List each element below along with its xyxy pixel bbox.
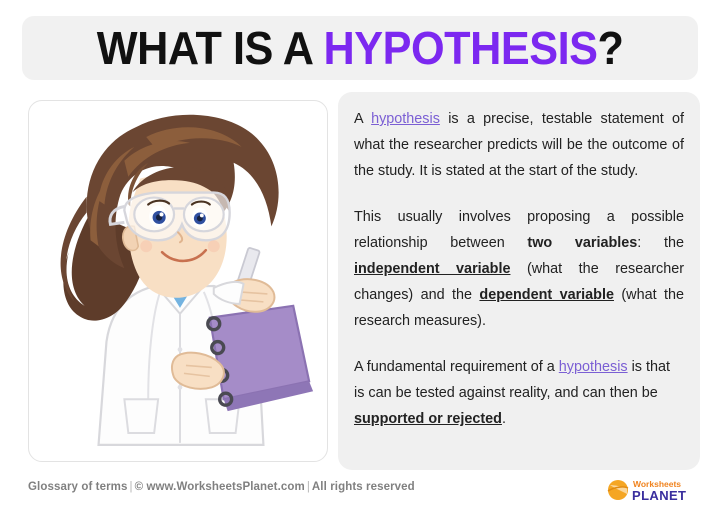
site-url[interactable]: www.WorksheetsPlanet.com (146, 481, 304, 493)
illustration-card (28, 100, 328, 462)
paragraph-3: A fundamental requirement of a hypothesi… (354, 354, 684, 432)
scientist-girl-illustration (29, 101, 327, 461)
page-title: WHAT IS A HYPOTHESIS? (97, 25, 624, 71)
clipboard (208, 306, 313, 411)
title-prefix: WHAT IS A (97, 22, 324, 74)
logo-word-bottom: PLANET (632, 488, 686, 503)
rights-label: All rights reserved (312, 481, 415, 493)
hypothesis-link-2[interactable]: hypothesis (559, 359, 628, 375)
p1-run-0: A (354, 111, 371, 127)
footer-separator-1: | (128, 481, 135, 493)
title-question-mark: ? (597, 22, 623, 74)
worksheets-planet-logo[interactable]: Worksheets PLANET (606, 476, 702, 504)
title-banner: WHAT IS A HYPOTHESIS? (22, 16, 698, 80)
footer-separator-2: | (305, 481, 312, 493)
paragraph-1: A hypothesis is a precise, testable stat… (354, 106, 684, 184)
planet-icon (608, 480, 628, 500)
paragraph-2: This usually involves proposing a possib… (354, 204, 684, 334)
glossary-label: Glossary of terms (28, 481, 128, 493)
footer-credit: Glossary of terms|© www.WorksheetsPlanet… (28, 481, 415, 493)
p2-run-2: : the (637, 235, 684, 251)
p3-run-0: A fundamental requirement of a (354, 359, 559, 375)
hypothesis-link[interactable]: hypothesis (371, 111, 440, 127)
two-variables-term: two variables (527, 235, 637, 251)
title-highlight: HYPOTHESIS (323, 22, 597, 74)
p3-run-4: . (502, 411, 506, 427)
copyright-icon: © (135, 481, 144, 493)
footer: Glossary of terms|© www.WorksheetsPlanet… (0, 470, 720, 509)
definition-panel: A hypothesis is a precise, testable stat… (338, 92, 700, 470)
independent-variable-term: independent variable (354, 261, 510, 277)
dependent-variable-term: dependent variable (479, 287, 614, 303)
supported-or-rejected-term: supported or rejected (354, 411, 502, 427)
